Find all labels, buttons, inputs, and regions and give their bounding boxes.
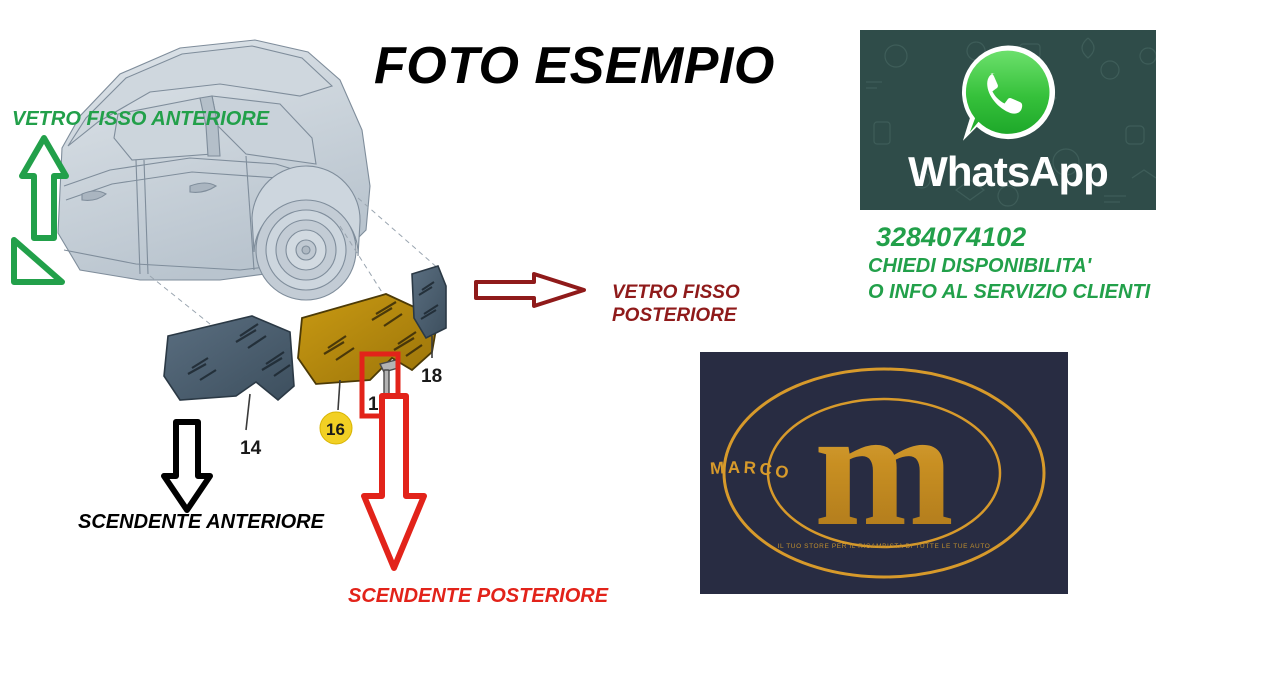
contact-availability-line: CHIEDI DISPONIBILITA' [868,253,1150,279]
whatsapp-wordmark: WhatsApp [860,148,1156,196]
red-down-arrow-icon [358,392,430,574]
callout-scendente-anteriore: SCENDENTE ANTERIORE [78,511,324,534]
screenshot-canvas: 14 16 17 [0,0,1264,678]
svg-text:18: 18 [421,366,442,387]
svg-text:16: 16 [326,420,345,439]
contact-phone-number[interactable]: 3284074102 [876,222,1150,253]
page-title: FOTO ESEMPIO [374,36,775,96]
green-up-arrow-icon [8,130,78,290]
svg-text:14: 14 [240,438,262,459]
logo-monogram: m [814,375,954,561]
callout-vetro-fisso-anteriore: VETRO FISSO ANTERIORE [12,108,269,131]
contact-customer-service-line: O INFO AL SERVIZIO CLIENTI [868,279,1150,305]
darkred-right-arrow-icon [472,270,588,310]
black-down-arrow-icon [158,418,216,514]
company-logo-plate: MRICAMBISTORE SERVICE DI RUSSO MARCO m I… [700,352,1068,594]
rear-wheel [252,166,360,300]
callout-vetro-fisso-posteriore: VETRO FISSO POSTERIORE [612,281,740,327]
contact-info-block: 3284074102 CHIEDI DISPONIBILITA' O INFO … [868,222,1150,305]
logo-tagline: IL TUO STORE PER IL RICAMBISTA DI TUTTE … [778,543,991,550]
whatsapp-phone-bubble-icon [956,42,1060,146]
whatsapp-banner: WhatsApp [860,30,1156,210]
callout-scendente-posteriore: SCENDENTE POSTERIORE [348,585,608,608]
